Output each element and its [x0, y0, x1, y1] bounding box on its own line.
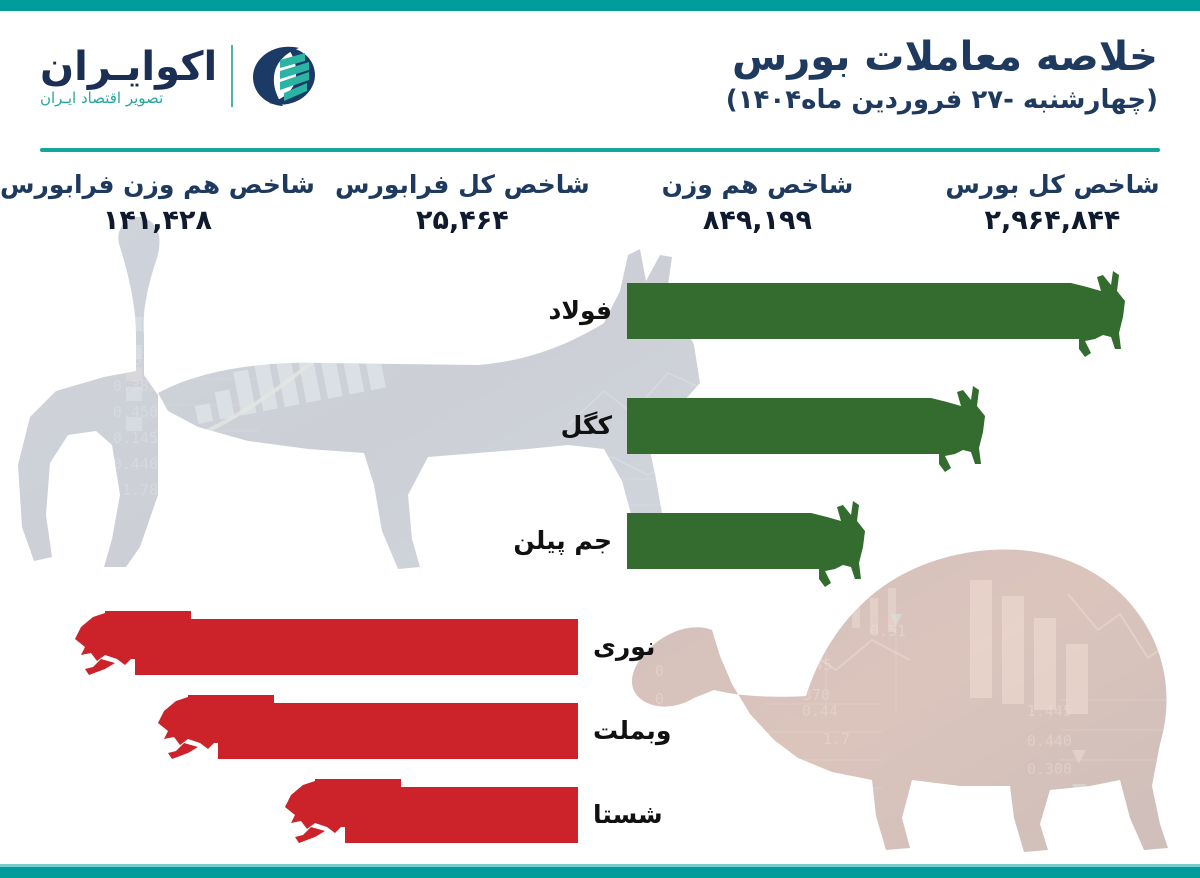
- brand-tagline: تصویر اقتصاد ایـران: [40, 91, 163, 106]
- index-value: ۸۴۹,۱۹۹: [610, 204, 905, 238]
- chart-row: شستا: [345, 787, 578, 843]
- brand-name: اکوایـران: [40, 47, 217, 87]
- index-summary-row: شاخص کل بورس ۲,۹۶۴,۸۴۴ شاخص هم وزن ۸۴۹,۱…: [0, 168, 1200, 250]
- chart-row: وبملت: [218, 703, 578, 759]
- bear-icon: [154, 687, 274, 779]
- chart-row-label: کگل: [561, 402, 612, 450]
- brand-divider: [231, 45, 233, 107]
- chart-row: جم پیلن: [627, 513, 807, 569]
- index-card-equal-weight-farabourse: شاخص هم وزن فرابورس ۱۴۱,۴۲۸: [0, 168, 315, 250]
- bottom-accent-strip: [0, 867, 1200, 878]
- brand-text: اکوایـران تصویر اقتصاد ایـران: [40, 47, 217, 106]
- index-value: ۱۴۱,۴۲۸: [0, 204, 315, 238]
- index-label: شاخص هم وزن: [610, 170, 905, 200]
- index-value: ۲۵,۴۶۴: [315, 204, 610, 238]
- index-card-total-bourse: شاخص کل بورس ۲,۹۶۴,۸۴۴: [905, 168, 1200, 250]
- chart-row-label: جم پیلن: [513, 517, 612, 565]
- chart-row: نوری: [135, 619, 578, 675]
- bull-icon: [1019, 257, 1129, 365]
- bar-positive-foolad: [627, 283, 1067, 339]
- index-value: ۲,۹۶۴,۸۴۴: [905, 204, 1200, 238]
- chart-row-label: نوری: [593, 623, 655, 671]
- chart-row: فولاد: [627, 283, 1067, 339]
- index-label: شاخص هم وزن فرابورس: [0, 170, 315, 200]
- index-card-equal-weight: شاخص هم وزن ۸۴۹,۱۹۹: [610, 168, 905, 250]
- eco-iran-swoosh-logo-icon: [247, 39, 321, 113]
- index-label: شاخص کل فرابورس: [315, 170, 610, 200]
- bull-icon: [759, 487, 869, 595]
- index-label: شاخص کل بورس: [905, 170, 1200, 200]
- chart-row-label: وبملت: [593, 707, 671, 755]
- page-title: خلاصه معاملات بورس: [726, 35, 1158, 80]
- chart-row-label: شستا: [593, 791, 663, 839]
- header-divider: [40, 148, 1160, 152]
- page-subtitle: (چهارشنبه -۲۷ فروردین ماه۱۴۰۴): [726, 84, 1158, 118]
- chart-row: کگل: [627, 398, 927, 454]
- header-titles: خلاصه معاملات بورس (چهارشنبه -۲۷ فروردین…: [726, 35, 1158, 118]
- page-header: اکوایـران تصویر اقتصاد ایـران خلاصه معام…: [0, 11, 1200, 140]
- brand-logo: اکوایـران تصویر اقتصاد ایـران: [40, 39, 321, 113]
- index-card-total-farabourse: شاخص کل فرابورس ۲۵,۴۶۴: [315, 168, 610, 250]
- bear-icon: [71, 603, 191, 695]
- bar-negative-noori: [135, 619, 578, 675]
- chart-row-label: فولاد: [549, 287, 613, 335]
- bull-icon: [879, 372, 989, 480]
- bear-icon: [281, 771, 401, 863]
- top-accent-strip: [0, 0, 1200, 11]
